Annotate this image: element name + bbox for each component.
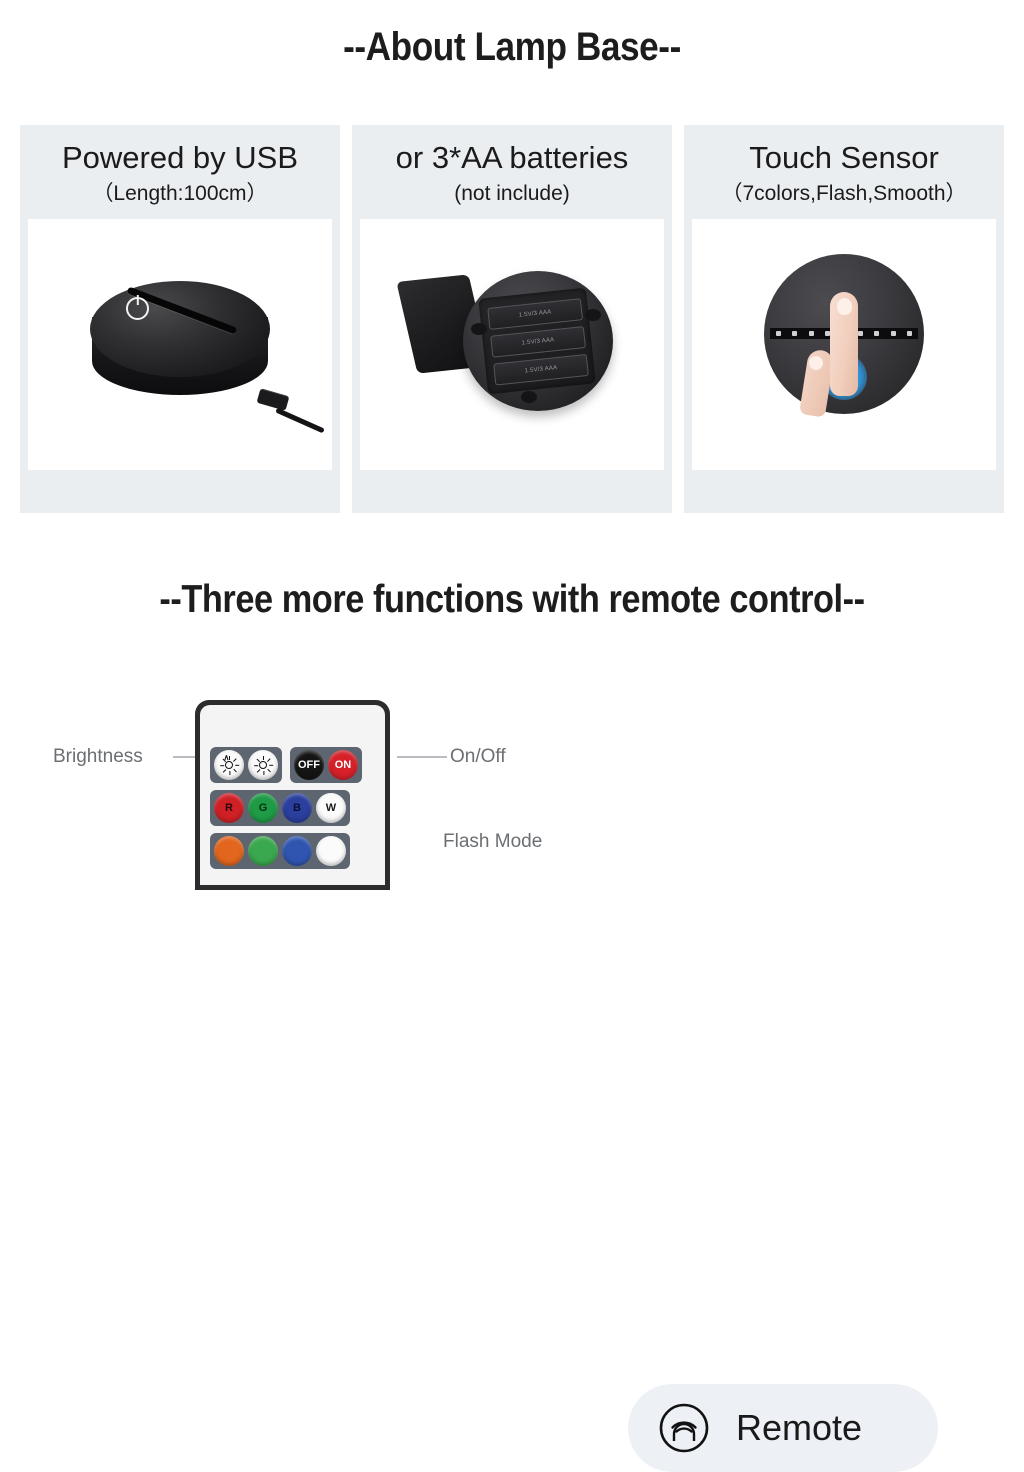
touch-sensor-photo <box>692 219 996 470</box>
leader-line-onoff <box>397 756 447 758</box>
callout-onoff: On/Off <box>450 746 506 768</box>
color-button-group-2 <box>210 833 350 869</box>
remote-section-title: --Three more functions with remote contr… <box>61 577 962 623</box>
lamp-base-illustration <box>80 275 280 425</box>
remote-button-row-colors-2 <box>210 833 375 869</box>
touch-sensor-illustration <box>764 254 924 414</box>
pointing-hand <box>818 292 870 420</box>
color-button-green[interactable]: G <box>248 793 278 823</box>
finger-nail <box>837 298 852 315</box>
feature-panel-batteries: or 3*AA batteries (not include) 1.5V/3 A… <box>352 125 672 513</box>
color-button-blue[interactable]: B <box>282 793 312 823</box>
feature-panel-group: Powered by USB （Length:100cm） or 3*AA ba… <box>20 125 1004 513</box>
color-button-group-1: R G B W <box>210 790 350 826</box>
sun-dim-icon: ∧ <box>221 757 238 774</box>
remote-signal-icon <box>658 1402 710 1454</box>
remote-button-row-colors-1: R G B W <box>210 790 375 826</box>
sun-bright-icon <box>255 757 272 774</box>
panel-title-batteries: or 3*AA batteries <box>396 139 629 177</box>
panel-title-touch-sensor: Touch Sensor <box>749 139 939 177</box>
panel-subtitle-batteries: (not include) <box>454 179 570 209</box>
remote-badge[interactable]: Remote <box>628 1384 938 1472</box>
led-dot <box>776 331 781 336</box>
battery-slot: 1.5V/3 AAA <box>493 353 589 385</box>
remote-button-row-top: ∧ <box>210 747 375 783</box>
rubber-foot <box>585 309 601 321</box>
color-button-orange[interactable] <box>214 836 244 866</box>
power-symbol-icon <box>126 297 149 320</box>
led-dot <box>792 331 797 336</box>
color-button-white[interactable]: W <box>316 793 346 823</box>
panel-subtitle-touch-sensor: （7colors,Flash,Smooth） <box>721 179 966 209</box>
battery-compartment-illustration: 1.5V/3 AAA 1.5V/3 AAA 1.5V/3 AAA <box>407 265 617 425</box>
battery-slot: 1.5V/3 AAA <box>487 298 583 330</box>
remote-control-diagram: Brightness On/Off Flash Mode ∧ <box>45 680 605 843</box>
rubber-foot <box>521 391 537 403</box>
led-dot <box>809 331 814 336</box>
page-title: --About Lamp Base-- <box>61 24 962 70</box>
remote-keypad: ∧ <box>200 705 385 885</box>
led-dot <box>891 331 896 336</box>
led-dot <box>874 331 879 336</box>
color-button-red[interactable]: R <box>214 793 244 823</box>
feature-panel-usb: Powered by USB （Length:100cm） <box>20 125 340 513</box>
callout-flash-mode: Flash Mode <box>443 831 542 853</box>
on-button[interactable]: ON <box>328 750 358 780</box>
rubber-foot <box>471 323 487 335</box>
lamp-base-underside: 1.5V/3 AAA 1.5V/3 AAA 1.5V/3 AAA <box>463 271 613 411</box>
brightness-button-group: ∧ <box>210 747 282 783</box>
remote-control-device[interactable]: ∧ <box>195 700 390 890</box>
product-infographic: --About Lamp Base-- Powered by USB （Leng… <box>0 0 1024 843</box>
brightness-down-icon[interactable]: ∧ <box>214 750 244 780</box>
led-dot <box>907 331 912 336</box>
remote-badge-label: Remote <box>736 1407 862 1449</box>
battery-slot: 1.5V/3 AAA <box>490 326 586 358</box>
usb-plug <box>257 388 290 411</box>
brightness-up-icon[interactable] <box>248 750 278 780</box>
panel-title-usb: Powered by USB <box>62 139 298 177</box>
remote-section: Brightness On/Off Flash Mode ∧ <box>0 680 1024 843</box>
mode-button-flash[interactable] <box>316 836 346 866</box>
lamp-base-usb-photo <box>28 219 332 470</box>
feature-panel-touch-sensor: Touch Sensor （7colors,Flash,Smooth） <box>684 125 1004 513</box>
callout-brightness: Brightness <box>53 746 143 768</box>
color-button-light-blue[interactable] <box>282 836 312 866</box>
usb-cable <box>275 407 325 433</box>
lamp-base-top-surface <box>90 281 270 377</box>
power-button-group: OFF ON <box>290 747 362 783</box>
panel-subtitle-usb: （Length:100cm） <box>92 179 267 209</box>
color-button-light-green[interactable] <box>248 836 278 866</box>
off-button[interactable]: OFF <box>294 750 324 780</box>
battery-well: 1.5V/3 AAA 1.5V/3 AAA 1.5V/3 AAA <box>478 287 595 394</box>
battery-compartment-photo: 1.5V/3 AAA 1.5V/3 AAA 1.5V/3 AAA <box>360 219 664 470</box>
